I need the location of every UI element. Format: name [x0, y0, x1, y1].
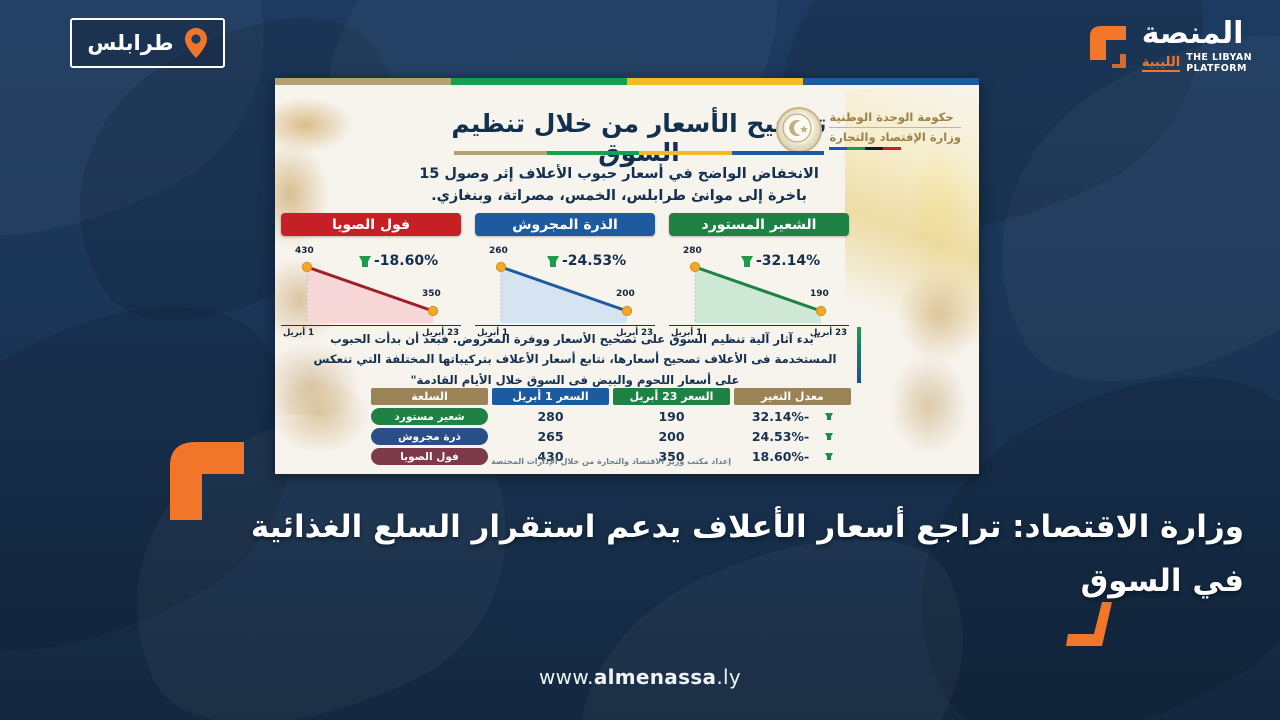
chart-change-soybean: -18.60% [359, 253, 438, 269]
logo-arabic-subtitle: الليبية [1142, 56, 1180, 72]
chart-plot-barley: 280 190 -32.14% [669, 245, 849, 325]
table-change-value: -32.14% [752, 409, 809, 424]
chart-start-value-barley: 280 [683, 246, 702, 256]
price-table: معدل التغير السعر 23 أبريل السعر 1 أبريل… [371, 388, 851, 465]
top-color-stripe [275, 78, 979, 85]
table-header-price1: السعر 1 أبريل [492, 388, 609, 405]
chart-title-soybean: فول الصويا [281, 213, 461, 236]
page-title: وزارة الاقتصاد: تراجع أسعار الأعلاف يدعم… [194, 500, 1244, 609]
location-label: طرابلس [87, 31, 173, 55]
chart-change-barley: -32.14% [741, 253, 820, 269]
logo-subtitle-row: THE LIBYANPLATFORM الليبية [1142, 53, 1252, 75]
infographic-title: تصحيح الأسعار من خلال تنظيم السوق [449, 109, 829, 167]
charts-row: الشعير المستورد 280 190 [281, 213, 849, 338]
table-cell-price23: 200 [613, 428, 730, 445]
soybean-decoration [859, 255, 979, 465]
url-suffix: .ly [716, 665, 741, 689]
down-arrow-icon [825, 433, 833, 440]
chart-change-label-corn: -24.53% [562, 253, 626, 269]
down-arrow-icon [359, 256, 371, 267]
chart-end-value-corn: 200 [616, 289, 635, 299]
table-cell-price23: 190 [613, 408, 730, 425]
down-arrow-icon [825, 413, 833, 420]
chart-start-value-corn: 260 [489, 246, 508, 256]
site-logo[interactable]: المنصة THE LIBYANPLATFORM الليبية [1080, 16, 1252, 78]
emblem-text: حكومة الوحدة الوطنية وزارة الإقتصاد والت… [829, 110, 961, 150]
infographic-quote: "بدء آثار آلية تنظيم السوق على تصحيح الأ… [301, 329, 849, 390]
table-header-item: السلعة [371, 388, 488, 405]
chart-plot-soybean: 430 350 -18.60% [281, 245, 461, 325]
table-header-change: معدل التغير [734, 388, 851, 405]
chart-start-value-soybean: 430 [295, 246, 314, 256]
url-name: almenassa [594, 665, 717, 689]
logo-bracket-icon [1080, 22, 1134, 72]
infographic-card: تصحيح الأسعار من خلال تنظيم السوق حكومة … [275, 78, 979, 474]
chart-title-corn: الذرة المجروش [475, 213, 655, 236]
logo-text: المنصة THE LIBYANPLATFORM الليبية [1142, 19, 1252, 75]
chart-plot-corn: 260 200 -24.53% [475, 245, 655, 325]
table-cell-price1: 265 [492, 428, 609, 445]
chart-corn: الذرة المجروش 260 200 [475, 213, 655, 338]
chart-change-label-soybean: -18.60% [374, 253, 438, 269]
infographic-body: تصحيح الأسعار من خلال تنظيم السوق حكومة … [275, 85, 979, 474]
chart-end-value-barley: 190 [810, 289, 829, 299]
emblem-seal-icon [776, 107, 822, 153]
location-badge: طرابلس [70, 18, 225, 68]
map-pin-icon [184, 28, 208, 58]
infographic-footer-credit: إعداد مكتب وزير الاقتصاد والتجارة من خلا… [371, 457, 851, 466]
table-header-price23: السعر 23 أبريل [613, 388, 730, 405]
table-cell-item: ذرة مجروش [371, 428, 488, 445]
poster-canvas: طرابلس المنصة THE LIBYANPLATFORM الليبية [0, 0, 1280, 720]
down-arrow-icon [741, 256, 753, 267]
table-row: -24.53% 200 265 ذرة مجروش [371, 428, 851, 445]
quote-accent-bar [857, 327, 861, 383]
chart-end-value-soybean: 350 [422, 289, 441, 299]
table-cell-change: -32.14% [734, 408, 851, 425]
down-arrow-icon [547, 256, 559, 267]
emblem-flag-bar [829, 147, 901, 150]
emblem-line-2: وزارة الإقتصاد والتجارة [829, 130, 961, 144]
infographic-subtitle: الانخفاض الواضح في أسعار حبوب الأعلاف إث… [409, 163, 829, 208]
emblem-line-1: حكومة الوحدة الوطنية [829, 110, 953, 124]
chart-change-label-barley: -32.14% [756, 253, 820, 269]
chart-change-corn: -24.53% [547, 253, 626, 269]
table-change-value: -24.53% [752, 429, 809, 444]
chart-soybean: فول الصويا 430 350 -18 [281, 213, 461, 338]
divider-color-stripe [454, 151, 824, 155]
website-url[interactable]: www.almenassa.ly [0, 665, 1280, 689]
url-prefix: www. [539, 665, 594, 689]
chart-barley: الشعير المستورد 280 190 [669, 213, 849, 338]
government-emblem: حكومة الوحدة الوطنية وزارة الإقتصاد والت… [776, 107, 961, 153]
logo-arabic-name: المنصة [1142, 19, 1244, 49]
table-header-row: معدل التغير السعر 23 أبريل السعر 1 أبريل… [371, 388, 851, 405]
chart-title-barley: الشعير المستورد [669, 213, 849, 236]
table-row: -32.14% 190 280 شعير مستورد [371, 408, 851, 425]
table-cell-item: شعير مستورد [371, 408, 488, 425]
table-cell-change: -24.53% [734, 428, 851, 445]
logo-english-name: THE LIBYANPLATFORM [1186, 53, 1252, 75]
table-cell-price1: 280 [492, 408, 609, 425]
